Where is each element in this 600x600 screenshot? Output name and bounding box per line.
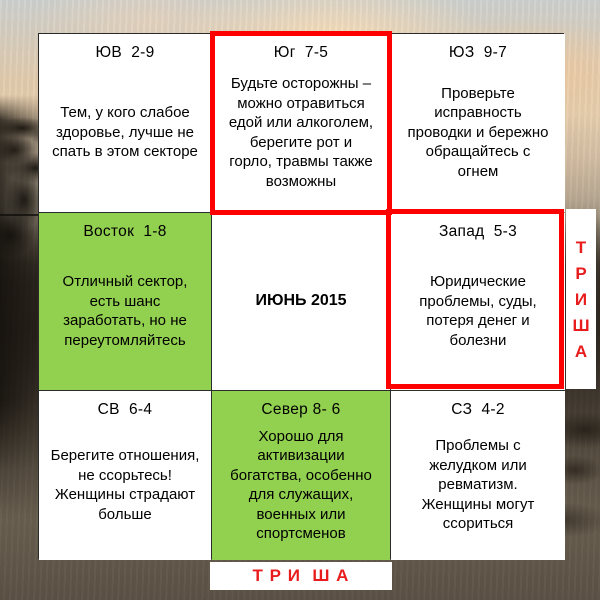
sector-text-north: Хорошо для активизации богатства, особен… <box>228 418 374 552</box>
sector-line: огнем <box>408 162 549 182</box>
sector-header-northeast: СВ 6-4 <box>98 401 153 418</box>
watermark-letter: И <box>575 291 587 308</box>
sector-line: не ссорьтесь! <box>51 466 200 486</box>
sector-cell-northwest[interactable]: СЗ 4-2 Проблемы с желудком или ревматизм… <box>391 391 565 560</box>
watermark-letter: А <box>575 343 587 360</box>
sector-line: переутомляйтесь <box>63 331 188 351</box>
sector-line: Проверьте <box>408 84 549 104</box>
watermark-letter: Т <box>576 239 586 256</box>
sector-line: потеря денег и <box>419 311 536 331</box>
sector-line: Женщины могут <box>422 495 535 515</box>
sector-line: заработать, но не <box>63 311 188 331</box>
sector-line: Берегите отношения, <box>51 446 200 466</box>
sector-line: Будьте осторожны – <box>229 74 373 94</box>
sector-line: едой или алкоголем, <box>229 113 373 133</box>
sector-line: спать в этом секторе <box>52 142 198 162</box>
sector-line: Проблемы с <box>422 436 535 456</box>
sector-line: исправность <box>408 103 549 123</box>
sector-header-northwest: СЗ 4-2 <box>451 401 505 418</box>
sector-line: военных или <box>230 505 372 525</box>
feng-shui-month-chart: ЮВ 2-9 Тем, у кого слабое здоровье, лучш… <box>0 0 600 600</box>
sector-line: возможны <box>229 172 373 192</box>
sector-line: спортсменов <box>230 524 372 544</box>
sector-cell-south[interactable]: Юг 7-5 Будьте осторожны – можно отравить… <box>212 34 390 212</box>
sector-line: проблемы, суды, <box>419 292 536 312</box>
sector-line: болезни <box>419 331 536 351</box>
sector-header-south: Юг 7-5 <box>274 44 328 61</box>
sector-header-north: Север 8- 6 <box>261 401 340 418</box>
sector-line: можно отравиться <box>229 94 373 114</box>
sector-cell-center: ИЮНЬ 2015 <box>212 213 390 390</box>
sector-line: активизации <box>230 446 372 466</box>
sector-line: есть шанс <box>63 292 188 312</box>
sector-text-southwest: Проверьте исправность проводки и бережно… <box>406 61 551 204</box>
sector-header-southeast: ЮВ 2-9 <box>95 44 154 61</box>
sector-line: ревматизм. <box>422 475 535 495</box>
sector-line: богатства, особенно <box>230 466 372 486</box>
sector-text-southeast: Тем, у кого слабое здоровье, лучше не сп… <box>50 61 200 204</box>
month-year-label: ИЮНЬ 2015 <box>255 291 346 312</box>
sector-line: проводки и бережно <box>408 123 549 143</box>
sector-line: ссориться <box>422 514 535 534</box>
sector-line: Отличный сектор, <box>63 272 188 292</box>
sector-cell-west[interactable]: Запад 5-3 Юридические проблемы, суды, по… <box>391 213 565 390</box>
sector-line: больше <box>51 505 200 525</box>
sector-text-west: Юридические проблемы, суды, потеря денег… <box>417 240 538 382</box>
sector-header-west: Запад 5-3 <box>439 223 517 240</box>
sector-header-east: Восток 1-8 <box>83 223 166 240</box>
sector-text-east: Отличный сектор, есть шанс заработать, н… <box>61 240 190 382</box>
sector-text-south: Будьте осторожны – можно отравиться едой… <box>227 61 375 204</box>
chart-month-title: ИЮНЬ 2015 <box>253 221 348 382</box>
watermark-label-right: Т Р И Ш А <box>566 209 596 389</box>
sector-line: Хорошо для <box>230 427 372 447</box>
watermark-letter: Ш <box>572 317 589 334</box>
sector-line: Тем, у кого слабое <box>52 103 198 123</box>
sector-cell-southeast[interactable]: ЮВ 2-9 Тем, у кого слабое здоровье, лучш… <box>39 34 211 212</box>
sector-text-northwest: Проблемы с желудком или ревматизм. Женщи… <box>420 418 537 552</box>
sector-line: Юридические <box>419 272 536 292</box>
sector-line: горло, травмы также <box>229 152 373 172</box>
sector-cell-northeast[interactable]: СВ 6-4 Берегите отношения, не ссорьтесь!… <box>39 391 211 560</box>
sector-line: обращайтесь с <box>408 142 549 162</box>
sector-line: берегите рот и <box>229 133 373 153</box>
sector-header-southwest: ЮЗ 9-7 <box>449 44 507 61</box>
sector-line: Женщины страдают <box>51 485 200 505</box>
sector-line: для служащих, <box>230 485 372 505</box>
sector-grid: ЮВ 2-9 Тем, у кого слабое здоровье, лучш… <box>38 33 564 559</box>
sector-cell-east[interactable]: Восток 1-8 Отличный сектор, есть шанс за… <box>39 213 211 390</box>
sector-text-northeast: Берегите отношения, не ссорьтесь! Женщин… <box>49 418 202 552</box>
watermark-label-bottom: Т Р И Ш А <box>210 562 392 590</box>
sector-line: желудком или <box>422 456 535 476</box>
sector-cell-southwest[interactable]: ЮЗ 9-7 Проверьте исправность проводки и … <box>391 34 565 212</box>
sector-cell-north[interactable]: Север 8- 6 Хорошо для активизации богатс… <box>212 391 390 560</box>
watermark-text: Т Р И Ш А <box>253 566 350 586</box>
watermark-letter: Р <box>575 265 586 282</box>
sector-line: здоровье, лучше не <box>52 123 198 143</box>
